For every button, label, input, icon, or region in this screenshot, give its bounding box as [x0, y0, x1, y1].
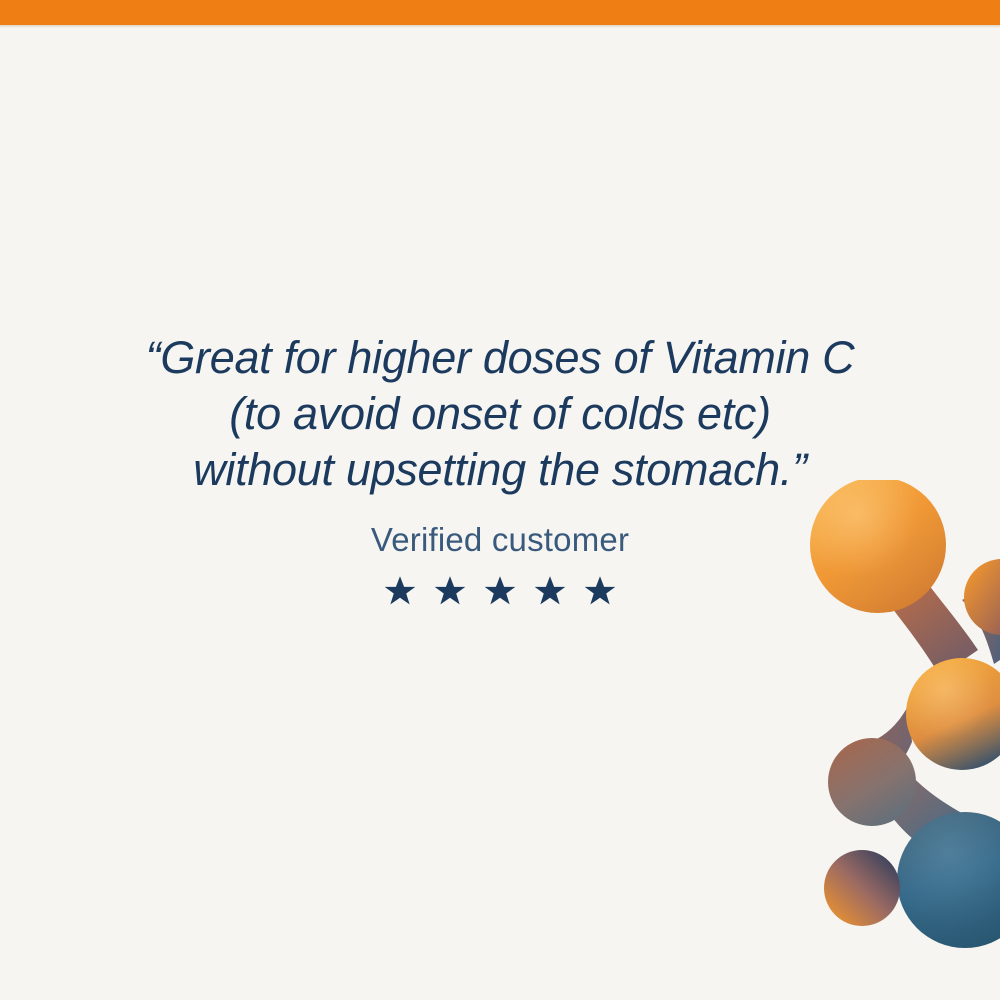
bond-taupe-to-teal [884, 772, 978, 862]
star-icon-3 [483, 574, 517, 608]
star-icon-2 [433, 574, 467, 608]
star-icon-4 [533, 574, 567, 608]
bond-mid-to-taupe [852, 706, 912, 790]
testimonial-block: “Great for higher doses of Vitamin C (to… [0, 330, 1000, 608]
taupe-sphere [828, 738, 916, 826]
testimonial-card: “Great for higher doses of Vitamin C (to… [0, 0, 1000, 1000]
top-accent-bar [0, 0, 1000, 25]
top-accent-bar-shadow [0, 25, 1000, 28]
mid-orange-sphere [906, 658, 1000, 770]
teal-sphere-highlight [897, 812, 1000, 948]
quote-line-2: (to avoid onset of colds etc) [0, 386, 1000, 442]
mid-orange-sphere-highlight [906, 658, 1000, 770]
teal-sphere [897, 812, 1000, 948]
star-rating [0, 574, 1000, 608]
attribution-label: Verified customer [0, 520, 1000, 560]
small-gradient-sphere [824, 850, 900, 926]
star-icon-5 [583, 574, 617, 608]
quote-line-3: without upsetting the stomach.” [0, 442, 1000, 498]
quote-line-1: “Great for higher doses of Vitamin C [0, 330, 1000, 386]
star-icon-1 [383, 574, 417, 608]
